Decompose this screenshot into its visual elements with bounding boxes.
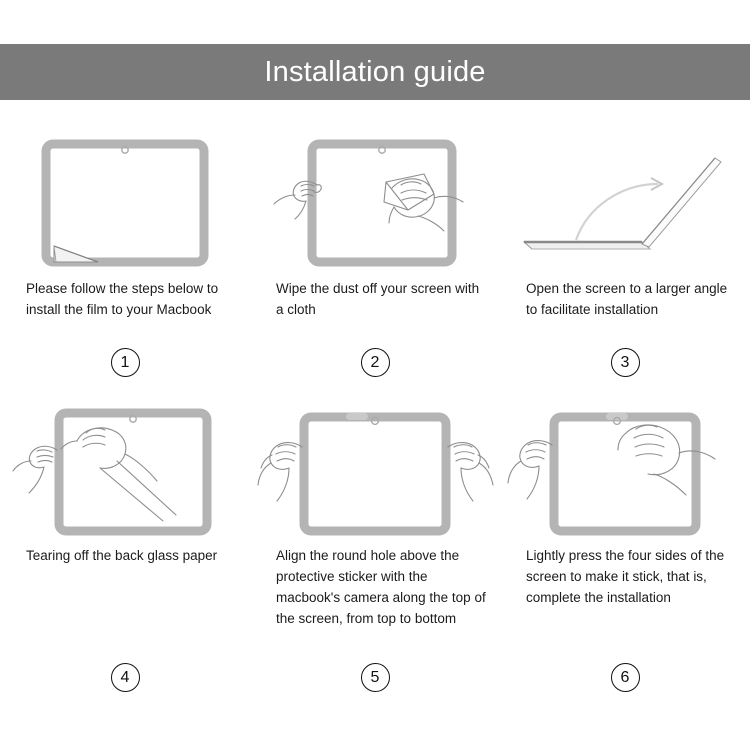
step-2-illustration: [250, 128, 500, 278]
step-2-number-wrap: 2: [250, 342, 500, 400]
step-panel-1: Please follow the steps below to install…: [0, 128, 250, 400]
step-5-number-wrap: 5: [250, 629, 500, 700]
tablet-with-peeling-film-corner-icon: [38, 136, 213, 271]
step-3-illustration: [500, 128, 750, 278]
step-3-number-wrap: 3: [500, 342, 750, 400]
steps-row-1: Please follow the steps below to install…: [0, 128, 750, 400]
step-4-caption: Tearing off the back glass paper: [0, 545, 250, 609]
tablet-with-hands-tearing-backing-icon: [13, 403, 238, 543]
step-number-badge: 3: [611, 348, 640, 377]
step-number-badge: 1: [111, 348, 140, 377]
step-1-caption: Please follow the steps below to install…: [0, 278, 250, 342]
step-4-number-wrap: 4: [0, 609, 250, 700]
step-1-illustration: [0, 128, 250, 278]
step-number-badge: 2: [361, 348, 390, 377]
steps-grid: Please follow the steps below to install…: [0, 128, 750, 700]
tablet-with-hand-pressing-screen-icon: [508, 403, 743, 543]
step-panel-6: Lightly press the four sides of the scre…: [500, 400, 750, 700]
step-3-caption: Open the screen to a larger angle to fac…: [500, 278, 750, 342]
step-6-number-wrap: 6: [500, 609, 750, 700]
step-2-caption: Wipe the dust off your screen with a clo…: [250, 278, 500, 342]
step-number-badge: 5: [361, 663, 390, 692]
step-panel-4: Tearing off the back glass paper 4: [0, 400, 250, 700]
step-1-number-wrap: 1: [0, 342, 250, 400]
step-5-caption: Align the round hole above the protectiv…: [250, 545, 500, 629]
header-banner: Installation guide: [0, 44, 750, 100]
step-panel-3: Open the screen to a larger angle to fac…: [500, 128, 750, 400]
tablet-with-two-hands-aligning-film-icon: [258, 403, 493, 543]
step-6-illustration: [500, 400, 750, 545]
step-number-badge: 4: [111, 663, 140, 692]
step-panel-2: Wipe the dust off your screen with a clo…: [250, 128, 500, 400]
step-5-illustration: [250, 400, 500, 545]
page-title: Installation guide: [264, 58, 485, 87]
laptop-side-profile-open-angle-icon: [518, 136, 733, 271]
step-number-badge: 6: [611, 663, 640, 692]
step-panel-5: Align the round hole above the protectiv…: [250, 400, 500, 700]
step-6-caption: Lightly press the four sides of the scre…: [500, 545, 750, 609]
tablet-with-hand-wiping-cloth-icon: [268, 136, 483, 271]
step-4-illustration: [0, 400, 250, 545]
steps-row-2: Tearing off the back glass paper 4: [0, 400, 750, 700]
